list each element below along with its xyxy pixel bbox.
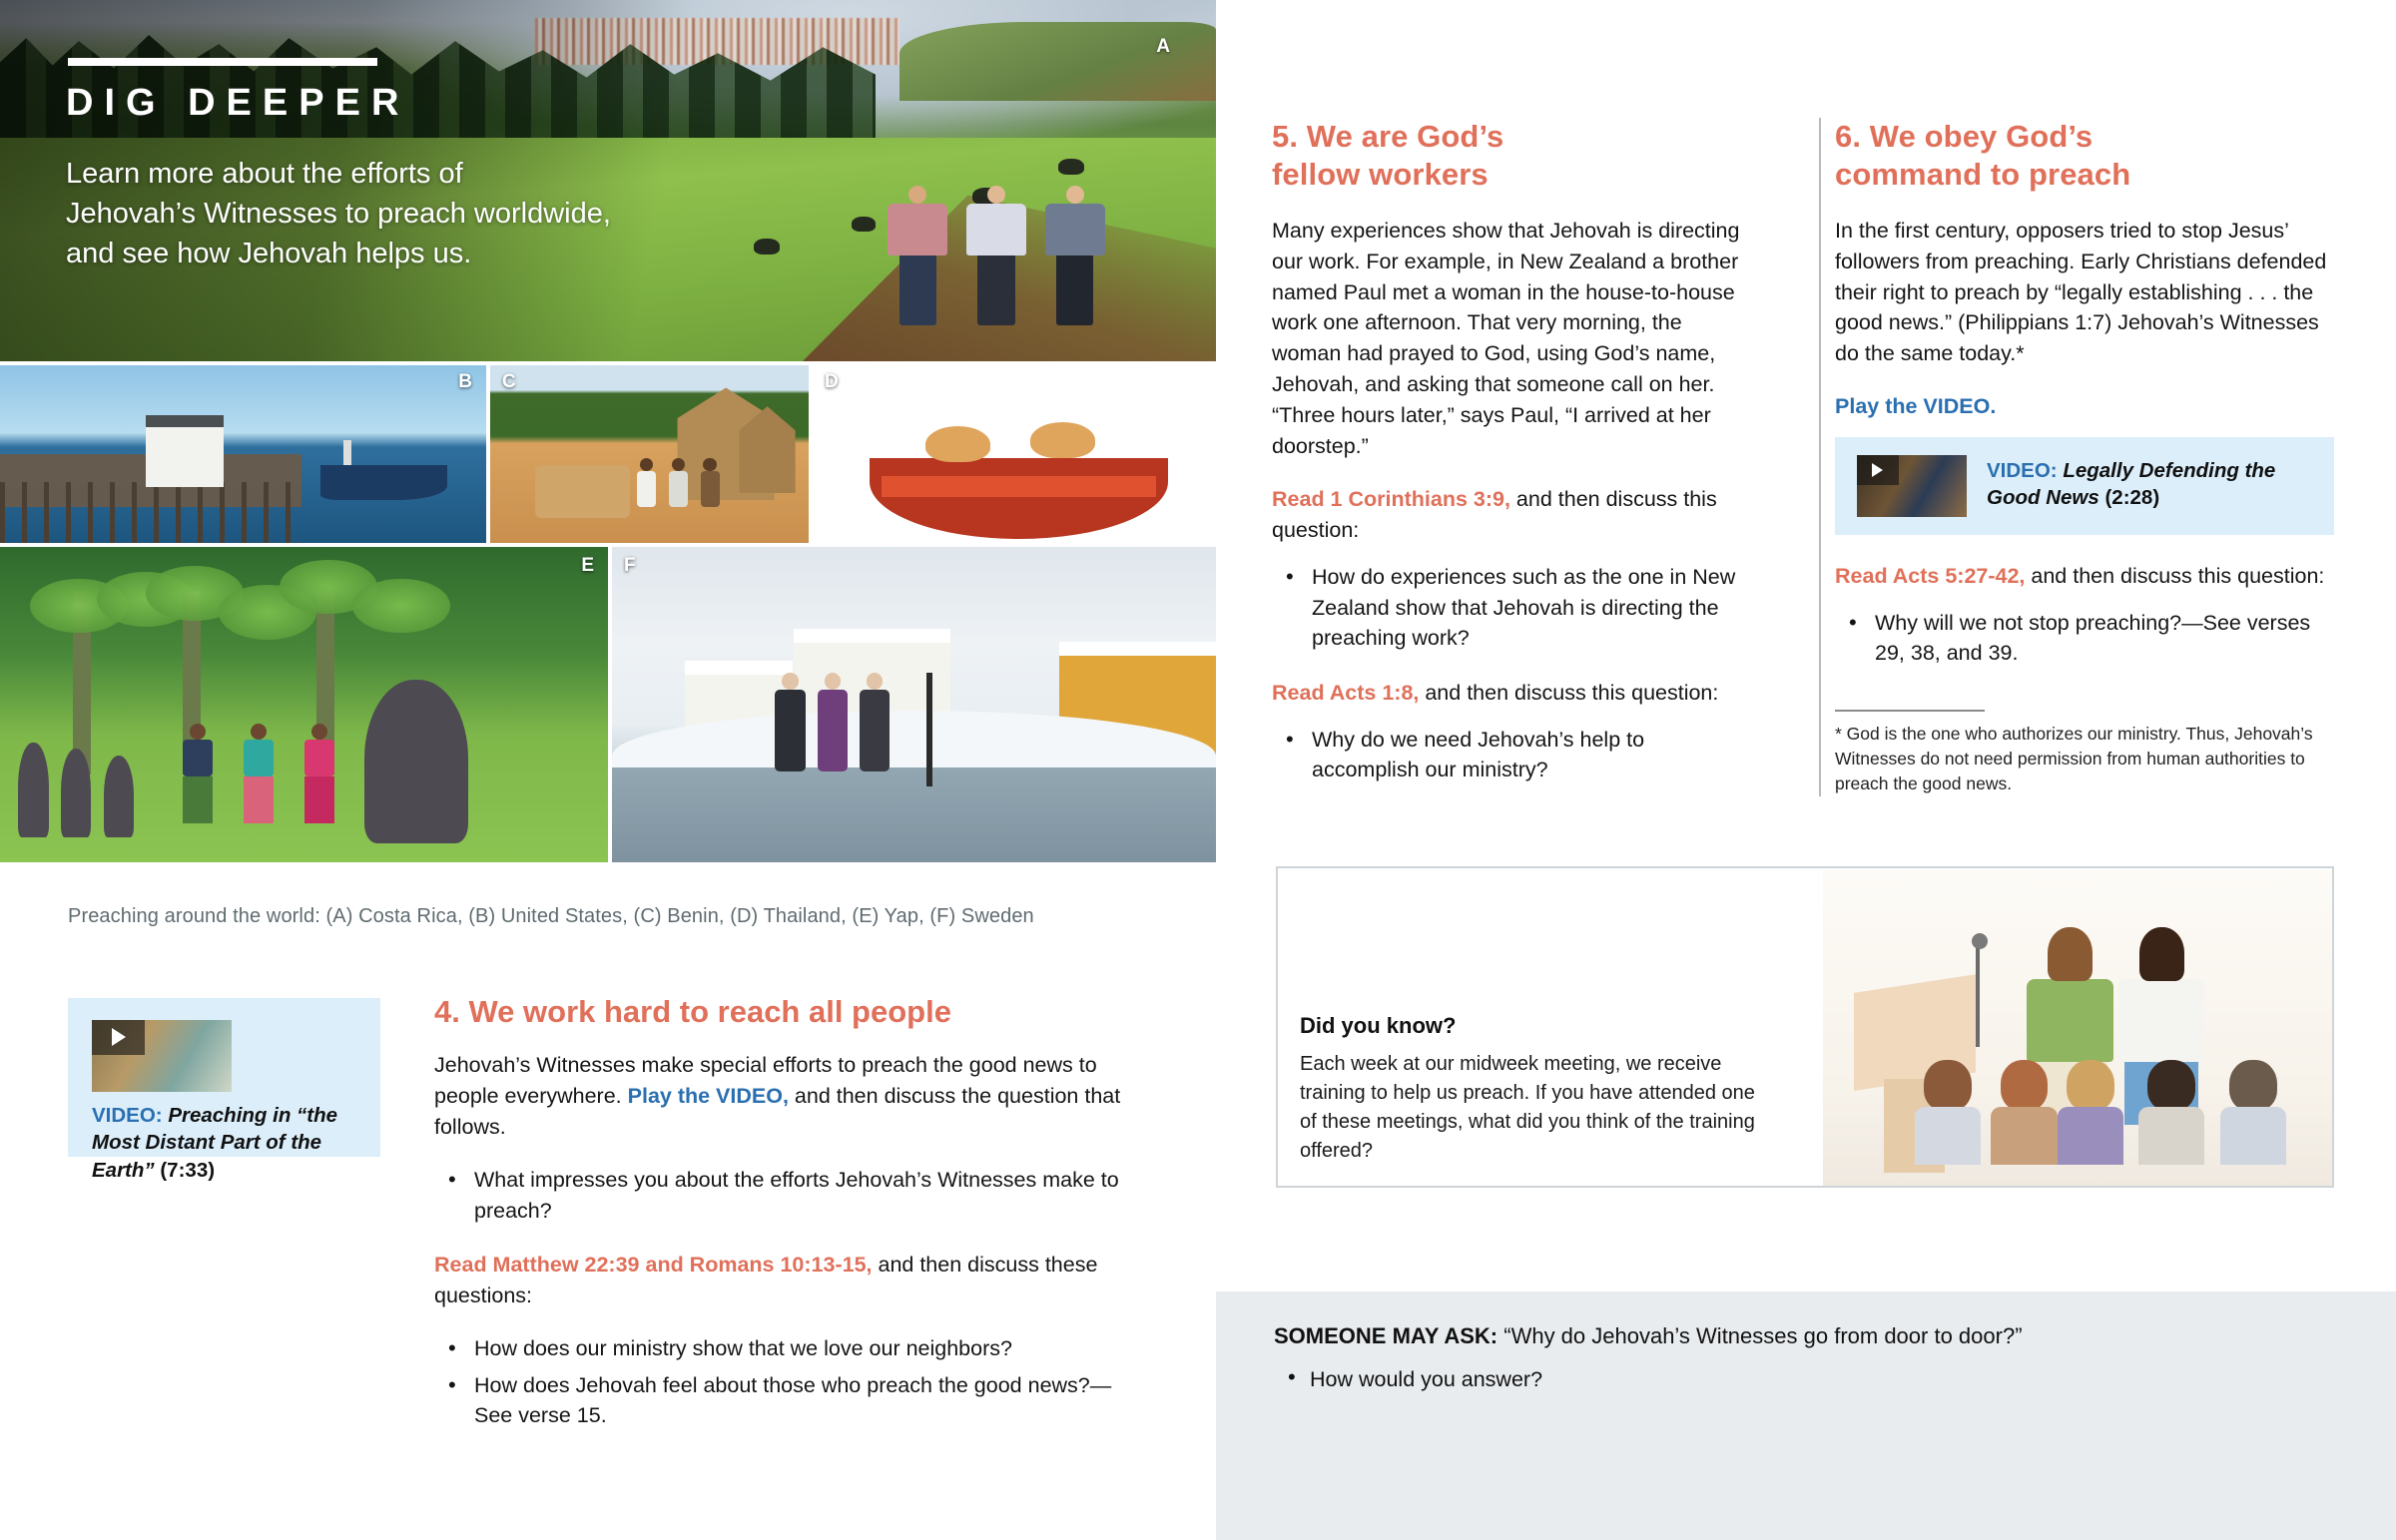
someone-may-ask-list: How would you answer? bbox=[1274, 1364, 2342, 1394]
video-duration: (2:28) bbox=[2104, 486, 2159, 509]
video-duration: (7:33) bbox=[160, 1159, 215, 1182]
question-item: How do experiences such as the one in Ne… bbox=[1308, 562, 1751, 654]
someone-may-ask-quote: “Why do Jehovah’s Witnesses go from door… bbox=[1497, 1323, 2022, 1348]
section-4-paragraph: Jehovah’s Witnesses make special efforts… bbox=[434, 1050, 1123, 1143]
section-6-paragraph: In the first century, opposers tried to … bbox=[1835, 216, 2334, 370]
section-4-heading: 4. We work hard to reach all people bbox=[434, 993, 1123, 1030]
microphone-icon bbox=[1976, 940, 1980, 1047]
photo-e-yap: E bbox=[0, 547, 608, 862]
photo-b-united-states: B bbox=[0, 365, 486, 543]
section-6-footnote: * God is the one who authorizes our mini… bbox=[1835, 722, 2334, 796]
section-5-heading: 5. We are God’s fellow workers bbox=[1272, 118, 1751, 194]
question-item: What impresses you about the efforts Jeh… bbox=[470, 1165, 1123, 1226]
someone-may-ask-content: SOMEONE MAY ASK: “Why do Jehovah’s Witne… bbox=[1274, 1321, 2342, 1394]
hero-hillside bbox=[899, 22, 1216, 102]
read-rest: and then discuss this question: bbox=[2025, 564, 2324, 588]
audience-figure bbox=[2058, 1060, 2123, 1186]
section-5-read-2: Read Acts 1:8, and then discuss this que… bbox=[1272, 678, 1751, 709]
question-item: Why will we not stop preaching?—See vers… bbox=[1871, 608, 2334, 669]
photo-label-a: A bbox=[1156, 36, 1170, 58]
photo-label-b: B bbox=[458, 371, 472, 393]
audience-figure bbox=[2138, 1060, 2204, 1186]
hero-preachers-group bbox=[888, 130, 1118, 324]
photo-label-f: F bbox=[624, 555, 636, 577]
section-6-read-block: Read Acts 5:27-42, and then discuss this… bbox=[1835, 561, 2334, 693]
section-4-questions-1: What impresses you about the efforts Jeh… bbox=[434, 1165, 1123, 1226]
play-icon[interactable] bbox=[92, 1020, 145, 1055]
hero-rule bbox=[68, 58, 377, 66]
page-root: DIG DEEPER Learn more about the efforts … bbox=[0, 0, 2396, 1540]
play-video-link[interactable]: Play the VIDEO, bbox=[628, 1084, 789, 1108]
video-caption: VIDEO: Preaching in “the Most Distant Pa… bbox=[92, 1102, 361, 1184]
scripture-reference[interactable]: Read Acts 5:27-42, bbox=[1835, 564, 2025, 588]
section-5-paragraph: Many experiences show that Jehovah is di… bbox=[1272, 216, 1751, 463]
scripture-reference[interactable]: Read 1 Corinthians 3:9, bbox=[1272, 487, 1510, 511]
section-6-questions: Why will we not stop preaching?—See vers… bbox=[1835, 608, 2334, 669]
someone-may-ask-line: SOMEONE MAY ASK: “Why do Jehovah’s Witne… bbox=[1274, 1321, 2342, 1352]
section-5-questions-2: Why do we need Jehovah’s help to accompl… bbox=[1272, 725, 1751, 785]
photo-label-c: C bbox=[502, 371, 516, 393]
photo-c-benin: C bbox=[490, 365, 809, 543]
did-you-know-box: Did you know? Each week at our midweek m… bbox=[1276, 866, 2334, 1188]
section-6-read: Read Acts 5:27-42, and then discuss this… bbox=[1835, 561, 2334, 592]
someone-may-ask-lead: SOMEONE MAY ASK: bbox=[1274, 1323, 1497, 1348]
person-figure bbox=[966, 186, 1026, 325]
audience-figure bbox=[1915, 1060, 1981, 1186]
section-6-heading: 6. We obey God’s command to preach bbox=[1835, 118, 2334, 194]
did-you-know-title: Did you know? bbox=[1300, 1013, 1456, 1039]
photo-label-e: E bbox=[581, 555, 594, 577]
section-5-read-1: Read 1 Corinthians 3:9, and then discuss… bbox=[1272, 484, 1751, 546]
person-figure bbox=[888, 186, 947, 325]
question-item: How does our ministry show that we love … bbox=[470, 1333, 1123, 1364]
play-icon[interactable] bbox=[1857, 455, 1899, 485]
scripture-reference[interactable]: Read Matthew 22:39 and Romans 10:13-15, bbox=[434, 1253, 873, 1277]
question-item: How does Jehovah feel about those who pr… bbox=[470, 1370, 1123, 1431]
section-4: 4. We work hard to reach all people Jeho… bbox=[434, 993, 1123, 1455]
video-thumbnail[interactable] bbox=[1857, 455, 1967, 517]
read-rest: and then discuss this question: bbox=[1419, 681, 1718, 705]
video-label: VIDEO: bbox=[1987, 459, 2058, 482]
play-video-link[interactable]: Play the VIDEO. bbox=[1835, 394, 1996, 418]
section-5-questions-1: How do experiences such as the one in Ne… bbox=[1272, 562, 1751, 654]
section-4-read: Read Matthew 22:39 and Romans 10:13-15, … bbox=[434, 1250, 1123, 1311]
video-thumbnail[interactable] bbox=[92, 1020, 232, 1092]
question-item: How would you answer? bbox=[1310, 1364, 2342, 1394]
section-4-questions-2: How does our ministry show that we love … bbox=[434, 1333, 1123, 1431]
hero-title: DIG DEEPER bbox=[66, 84, 409, 122]
audience-figure bbox=[1991, 1060, 2057, 1186]
meeting-illustration bbox=[1823, 870, 2332, 1186]
photo-label-d: D bbox=[825, 371, 839, 393]
left-column: DIG DEEPER Learn more about the efforts … bbox=[0, 0, 1216, 1540]
video-caption: VIDEO: Legally Defending the Good News (… bbox=[1987, 457, 2316, 511]
cow-icon bbox=[754, 239, 780, 255]
column-divider bbox=[1819, 118, 1821, 796]
section-6-play-link-line: Play the VIDEO. bbox=[1835, 391, 2334, 422]
section-6: 6. We obey God’s command to preach In th… bbox=[1835, 118, 2334, 422]
video-card-legally-defending[interactable]: VIDEO: Legally Defending the Good News (… bbox=[1835, 437, 2334, 535]
hero-image: DIG DEEPER Learn more about the efforts … bbox=[0, 0, 1216, 361]
video-card-preaching[interactable]: VIDEO: Preaching in “the Most Distant Pa… bbox=[68, 998, 380, 1157]
photo-d-thailand: D bbox=[813, 365, 1216, 543]
did-you-know-text: Each week at our midweek meeting, we rec… bbox=[1300, 1050, 1769, 1166]
audience-figure bbox=[2220, 1060, 2286, 1186]
section-5: 5. We are God’s fellow workers Many expe… bbox=[1272, 118, 1751, 809]
scripture-reference[interactable]: Read Acts 1:8, bbox=[1272, 681, 1419, 705]
person-figure bbox=[1045, 186, 1105, 325]
video-label: VIDEO: bbox=[92, 1104, 163, 1127]
footnote-rule bbox=[1835, 710, 1985, 712]
photo-f-sweden: F bbox=[612, 547, 1216, 862]
question-item: Why do we need Jehovah’s help to accompl… bbox=[1308, 725, 1751, 785]
photo-grid: B C D bbox=[0, 365, 1216, 862]
microphone-head-icon bbox=[1972, 933, 1988, 949]
hero-subtitle: Learn more about the efforts of Jehovah’… bbox=[66, 154, 611, 273]
cow-icon bbox=[852, 217, 876, 232]
photo-grid-caption: Preaching around the world: (A) Costa Ri… bbox=[68, 905, 1034, 928]
